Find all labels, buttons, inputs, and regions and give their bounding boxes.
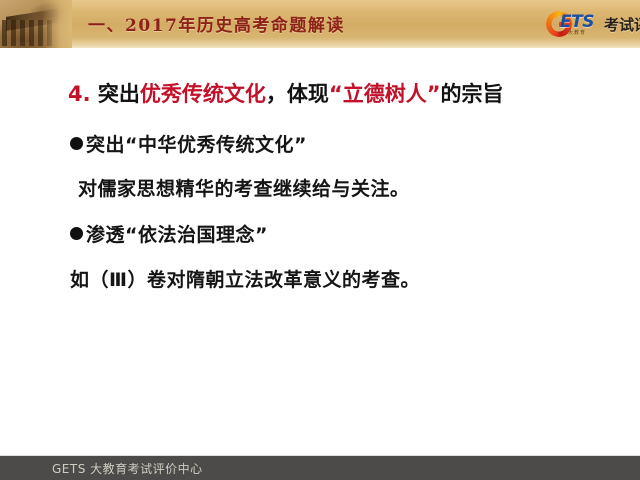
slide-body: 4. 突出优秀传统文化，体现“立德树人”的宗旨 突出“中华优秀传统文化” 对儒家… xyxy=(0,48,640,456)
section-heading: 4. 突出优秀传统文化，体现“立德树人”的宗旨 xyxy=(68,82,504,106)
photo-fade-overlay xyxy=(42,0,72,48)
logo-subtext: 大教育 xyxy=(568,29,586,36)
slide-root: 一、2017年历史高考命题解读 ETS 大教育 考试评价中心 4. 突出优秀传统… xyxy=(0,0,640,480)
body-line-4-text: 如（Ⅲ）卷对隋朝立法改革意义的考查。 xyxy=(70,269,420,291)
body-line-1: 突出“中华优秀传统文化” xyxy=(70,130,307,157)
slide-footer: GETS 大教育考试评价中心 xyxy=(0,455,640,480)
body-line-3-text: 渗透“依法治国理念” xyxy=(86,224,268,246)
heading-seg-1: 突出 xyxy=(98,82,140,106)
bullet-dot-icon xyxy=(70,137,83,150)
great-wall-photo-icon xyxy=(0,0,72,48)
heading-seg-2: 优秀传统文化 xyxy=(140,82,266,106)
heading-seg-number: 4. xyxy=(68,82,98,106)
heading-seg-quoted: “立德树人” xyxy=(329,82,441,106)
footer-brand-text: GETS 大教育考试评价中心 xyxy=(52,460,203,477)
body-line-4: 如（Ⅲ）卷对隋朝立法改革意义的考查。 xyxy=(70,265,420,292)
logo-mark: ETS 大教育 考试评价中心 xyxy=(546,10,632,38)
logo-chinese-name: 考试评价中心 xyxy=(604,14,640,35)
header-title: 一、2017年历史高考命题解读 xyxy=(88,11,345,36)
gets-logo: ETS 大教育 考试评价中心 xyxy=(546,9,632,39)
body-line-1-text: 突出“中华优秀传统文化” xyxy=(86,134,307,156)
body-line-2-text: 对儒家思想精华的考查继续给与关注。 xyxy=(78,178,410,200)
bullet-dot-icon xyxy=(70,227,83,240)
heading-seg-4: 体现 xyxy=(287,82,329,106)
slide-header: 一、2017年历史高考命题解读 ETS 大教育 考试评价中心 xyxy=(0,0,640,48)
heading-seg-comma: ， xyxy=(266,82,287,106)
body-line-2: 对儒家思想精华的考查继续给与关注。 xyxy=(78,174,410,201)
body-line-3: 渗透“依法治国理念” xyxy=(70,220,268,247)
heading-seg-tail: 的宗旨 xyxy=(441,82,504,106)
